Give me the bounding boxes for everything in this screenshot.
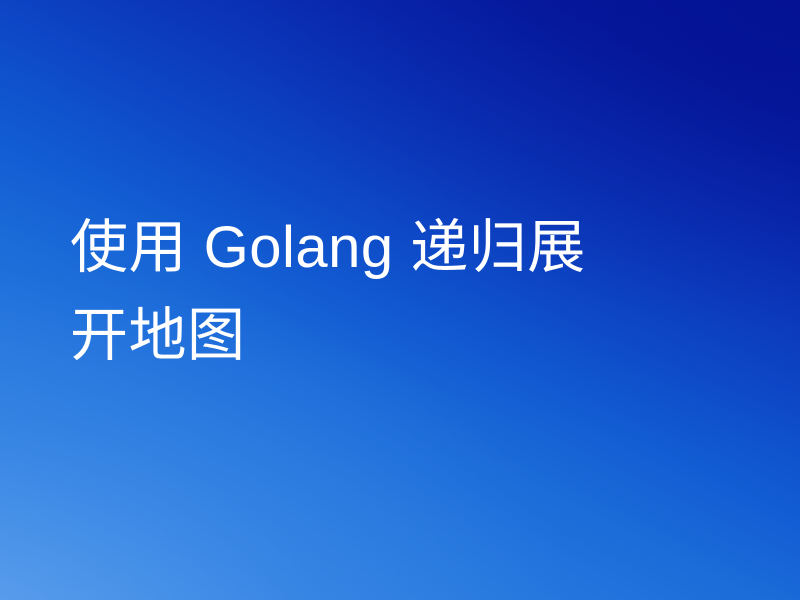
cover-card: 使用 Golang 递归展开地图	[0, 0, 800, 600]
cover-title: 使用 Golang 递归展开地图	[70, 204, 630, 380]
title-block: 使用 Golang 递归展开地图	[70, 204, 630, 380]
